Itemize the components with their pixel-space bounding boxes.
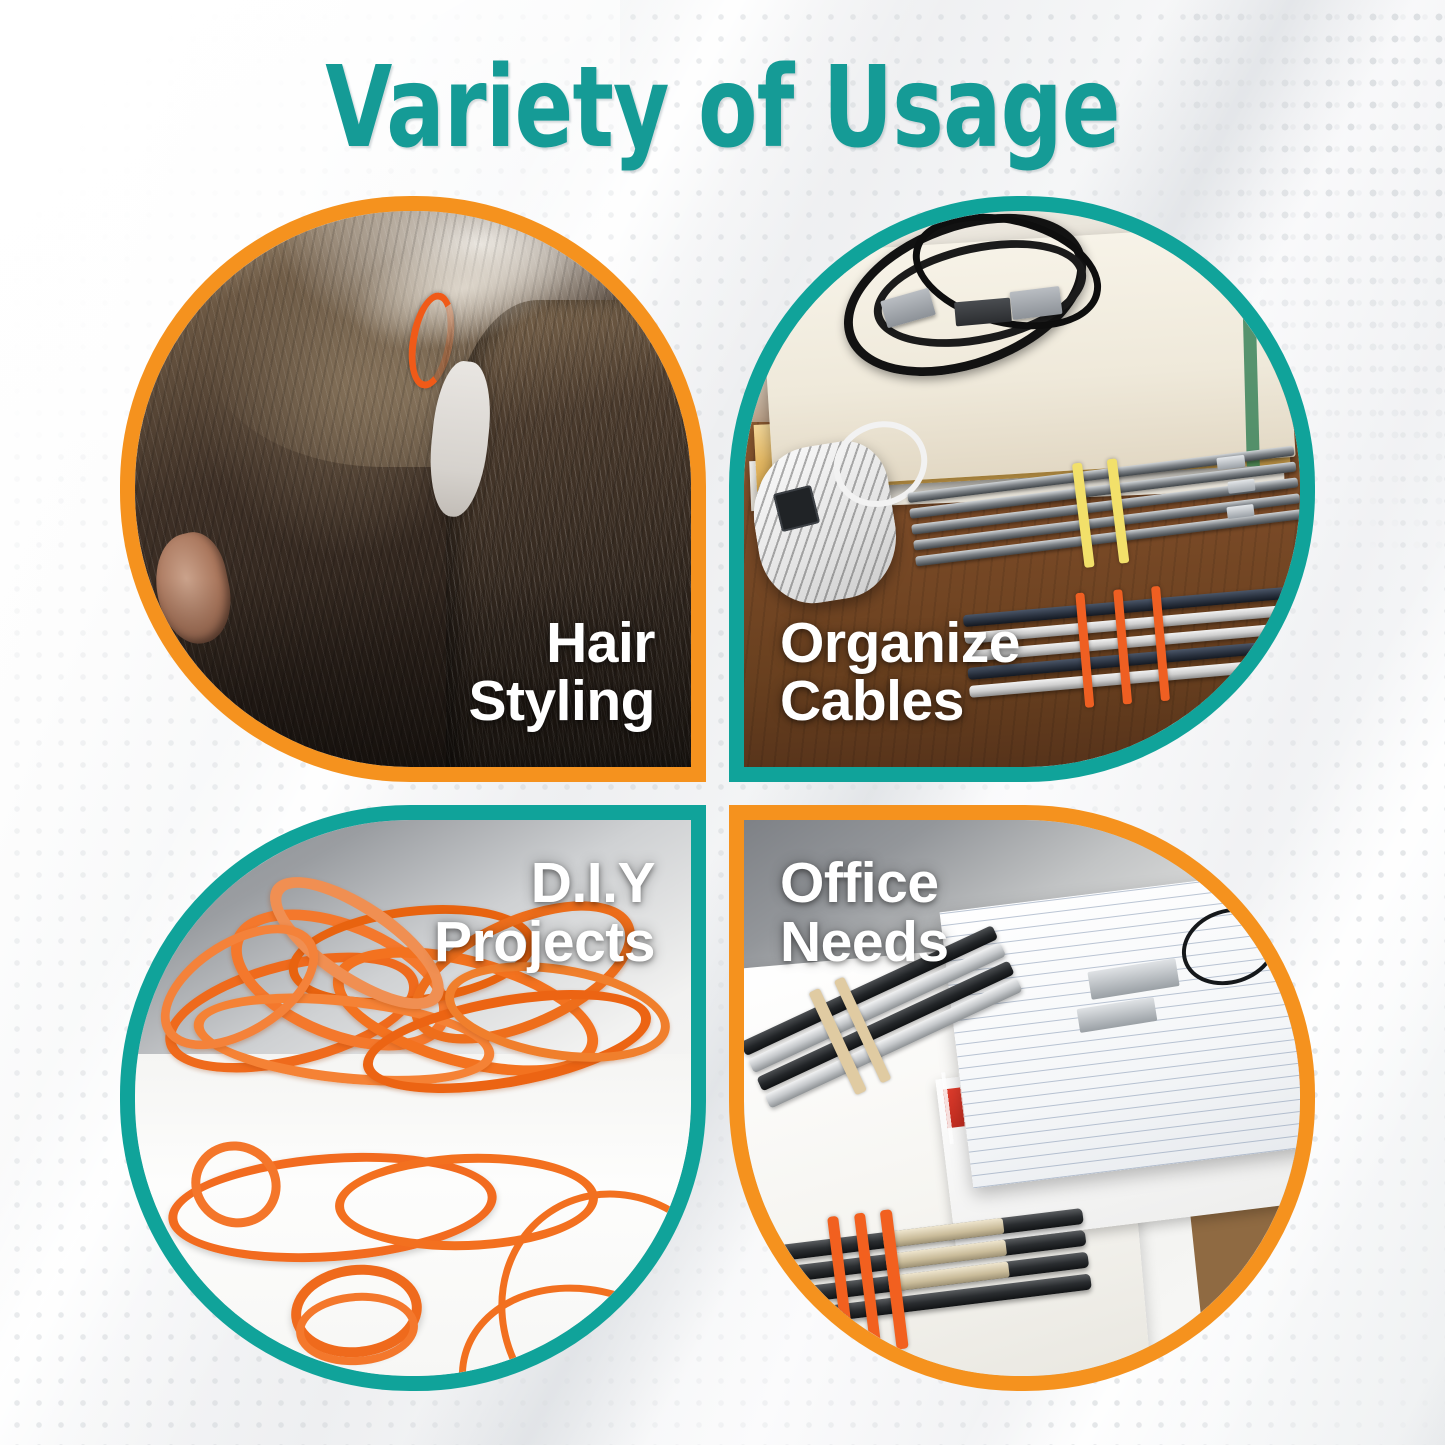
panel-hair-styling[interactable]: Hair Styling xyxy=(120,196,706,782)
page-title: Variety of Usage xyxy=(101,52,1344,164)
panel-office-needs[interactable]: Office Needs xyxy=(729,805,1315,1391)
panel-caption-office-needs: Office Needs xyxy=(780,854,949,971)
panel-diy-projects[interactable]: D.I.Y Projects xyxy=(120,805,706,1391)
panel-organize-cables[interactable]: Organize Cables xyxy=(729,196,1315,782)
panel-caption-diy-projects: D.I.Y Projects xyxy=(434,854,655,971)
panel-caption-organize-cables: Organize Cables xyxy=(780,614,1020,731)
infographic-canvas: Variety of Usage Hair Styling xyxy=(0,0,1445,1445)
usage-panel-grid: Hair Styling xyxy=(120,196,1315,1391)
usb-connector-2 xyxy=(1009,286,1062,320)
panel-caption-hair-styling: Hair Styling xyxy=(468,614,655,731)
